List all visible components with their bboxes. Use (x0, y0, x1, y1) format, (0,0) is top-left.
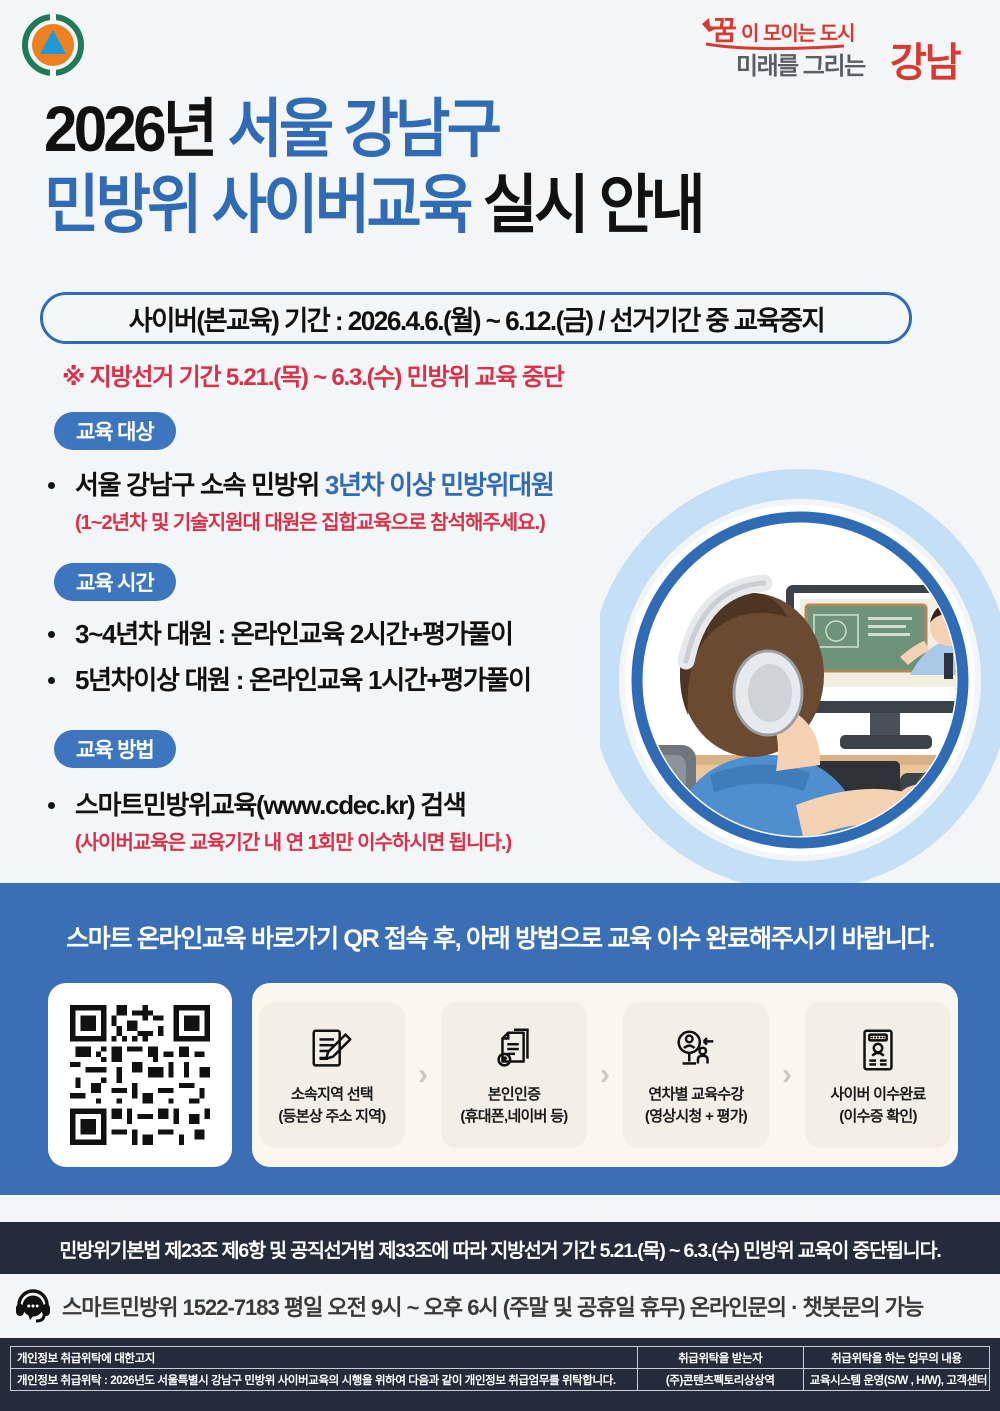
qr-panel-heading: 스마트 온라인교육 바로가기 QR 접속 후, 아래 방법으로 교육 이수 완료… (0, 919, 1000, 955)
civil-defense-logo (22, 14, 84, 76)
bullet-duration-2: 5년차이상 대원 : 온라인교육 1시간+평가풀이 (48, 663, 531, 698)
training-period-text: 사이버(본교육) 기간 : 2026.4.6.(월) ~ 6.12.(금) / … (128, 299, 823, 338)
step-2-line2: (휴대폰,네이버 등) (460, 1106, 567, 1128)
smart-online-training-qr-code[interactable] (48, 983, 232, 1167)
section-badge-target-label: 교육 대상 (76, 416, 154, 446)
section-badge-method: 교육 방법 (54, 730, 176, 768)
video-lecture-icon (671, 1022, 721, 1078)
bullet-target-main-highlight: 3년차 이상 민방위대원 (325, 470, 554, 500)
election-suspension-note: ※ 지방선거 기간 5.21.(목) ~ 6.3.(수) 민방위 교육 중단 (62, 357, 564, 392)
privacy-delegation-footer: 개인정보 취급위탁에 대한고지 취급위탁을 받는자 취급위탁을 하는 업무의 내… (0, 1338, 1000, 1411)
chevron-right-icon-1: › (405, 1060, 441, 1090)
online-training-illustration (600, 425, 1000, 885)
chevron-right-icon-2: › (587, 1060, 623, 1090)
bullet-method-sub: (사이버교육은 교육기간 내 연 1회만 이수하시면 됩니다.) (75, 829, 511, 858)
chevron-right-icon-3: › (769, 1060, 805, 1090)
contact-strip: 스마트민방위 1522-7183 평일 오전 9시 ~ 오후 6시 (주말 및 … (0, 1274, 1000, 1338)
step-1-select-region[interactable]: 소속지역 선택 (등본상 주소 지역) (259, 1002, 405, 1148)
bullet-duration-2-text: 5년차이상 대원 : 온라인교육 1시간+평가풀이 (75, 663, 531, 698)
title-line-2: 민방위 사이버교육 실시 안내 (44, 168, 909, 244)
bullet-dot-icon (48, 631, 55, 638)
bullet-method-1: 스마트민방위교육(www.cdec.kr) 검색 (사이버교육은 교육기간 내 … (48, 788, 511, 858)
bullet-method-main: 스마트민방위교육(www.cdec.kr) 검색 (75, 788, 511, 823)
table-row: 개인정보 취급위탁에 대한고지 취급위탁을 받는자 취급위탁을 하는 업무의 내… (11, 1347, 990, 1369)
contact-text: 스마트민방위 1522-7183 평일 오전 9시 ~ 오후 6시 (주말 및 … (62, 1290, 923, 1322)
step-1-line1: 소속지역 선택 (291, 1084, 373, 1106)
section-badge-duration: 교육 시간 (54, 563, 176, 601)
bullet-dot-icon (48, 677, 55, 684)
poster-title: 2026년 서울 강남구 민방위 사이버교육 실시 안내 (44, 92, 964, 243)
title-year: 2026년 (44, 93, 214, 165)
legal-notice-strip: 민방위기본법 제23조 제6항 및 공직선거법 제33조에 따라 지방선거 기간… (0, 1222, 1000, 1274)
section-badge-method-label: 교육 방법 (76, 734, 154, 764)
svg-text:강남: 강남 (890, 41, 962, 82)
title-line-1: 2026년 서울 강남구 (44, 92, 909, 168)
section-badge-duration-label: 교육 시간 (76, 567, 154, 597)
step-3-line2: (영상시청 + 평가) (645, 1106, 747, 1128)
step-3-line1: 연차별 교육수강 (648, 1084, 743, 1106)
step-3-take-course[interactable]: 연차별 교육수강 (영상시청 + 평가) (623, 1002, 769, 1148)
step-4-line1: 사이버 이수완료 (830, 1084, 925, 1106)
step-4-line2: (이수증 확인) (839, 1106, 917, 1128)
headset-chat-icon (14, 1287, 52, 1325)
step-1-line2: (등본상 주소 지역) (278, 1106, 385, 1128)
certificate-icon (853, 1022, 903, 1078)
privacy-delegation-table: 개인정보 취급위탁에 대한고지 취급위탁을 받는자 취급위탁을 하는 업무의 내… (10, 1346, 990, 1391)
training-steps-card: 소속지역 선택 (등본상 주소 지역) › 본인인증 (252, 983, 958, 1167)
svg-text:미래를 그리는: 미래를 그리는 (736, 53, 866, 80)
svg-text:꿈: 꿈 (712, 16, 736, 46)
title-subject: 민방위 사이버교육 (44, 169, 470, 241)
bullet-duration-1: 3~4년차 대원 : 온라인교육 2시간+평가풀이 (48, 617, 513, 652)
gangnam-brand-logo: 꿈 이 모이는 도시 미래를 그리는 강남 (694, 8, 984, 82)
footer-r2-c3: 교육시스템 운영(S/W , H/W), 고객센터 (803, 1369, 989, 1391)
qr-steps-panel: 스마트 온라인교육 바로가기 QR 접속 후, 아래 방법으로 교육 이수 완료… (0, 883, 1000, 1195)
legal-notice-text: 민방위기본법 제23조 제6항 및 공직선거법 제33조에 따라 지방선거 기간… (59, 1234, 940, 1263)
bullet-target-main: 서울 강남구 소속 민방위 3년차 이상 민방위대원 (75, 468, 554, 503)
poster-root: 꿈 이 모이는 도시 미래를 그리는 강남 2026년 서울 강남구 민방위 사… (0, 0, 1000, 1411)
table-row: 개인정보 취급위탁 : 2026년도 서울특별시 강남구 민방위 사이버교육의 … (11, 1369, 990, 1391)
footer-r1-c2: 취급위탁을 받는자 (637, 1347, 803, 1369)
footer-r1-c3: 취급위탁을 하는 업무의 내용 (803, 1347, 989, 1369)
document-pencil-icon (307, 1022, 357, 1078)
bullet-dot-icon (48, 802, 55, 809)
bullet-target-1: 서울 강남구 소속 민방위 3년차 이상 민방위대원 (1~2년차 및 기술지원… (48, 468, 554, 538)
document-upload-icon (489, 1022, 539, 1078)
poster-header: 꿈 이 모이는 도시 미래를 그리는 강남 (0, 0, 1000, 90)
bullet-dot-icon (48, 482, 55, 489)
bullet-target-main-prefix: 서울 강남구 소속 민방위 (75, 470, 325, 500)
bullet-duration-1-text: 3~4년차 대원 : 온라인교육 2시간+평가풀이 (75, 617, 513, 652)
title-district: 서울 강남구 (227, 93, 498, 165)
step-4-completion[interactable]: 사이버 이수완료 (이수증 확인) (805, 1002, 951, 1148)
step-2-line1: 본인인증 (488, 1084, 540, 1106)
title-suffix: 실시 안내 (483, 169, 702, 241)
bullet-target-sub: (1~2년차 및 기술지원대 대원은 집합교육으로 참석해주세요.) (75, 509, 554, 538)
svg-text:이 모이는 도시: 이 모이는 도시 (741, 22, 855, 45)
footer-r1-c1: 개인정보 취급위탁에 대한고지 (11, 1347, 638, 1369)
section-badge-target: 교육 대상 (54, 412, 176, 450)
step-2-identity-verification[interactable]: 본인인증 (휴대폰,네이버 등) (441, 1002, 587, 1148)
training-period-banner: 사이버(본교육) 기간 : 2026.4.6.(월) ~ 6.12.(금) / … (40, 292, 912, 344)
footer-r2-c2: (주)콘텐츠펙토리상상역 (637, 1369, 803, 1391)
footer-r2-c1: 개인정보 취급위탁 : 2026년도 서울특별시 강남구 민방위 사이버교육의 … (11, 1369, 638, 1391)
